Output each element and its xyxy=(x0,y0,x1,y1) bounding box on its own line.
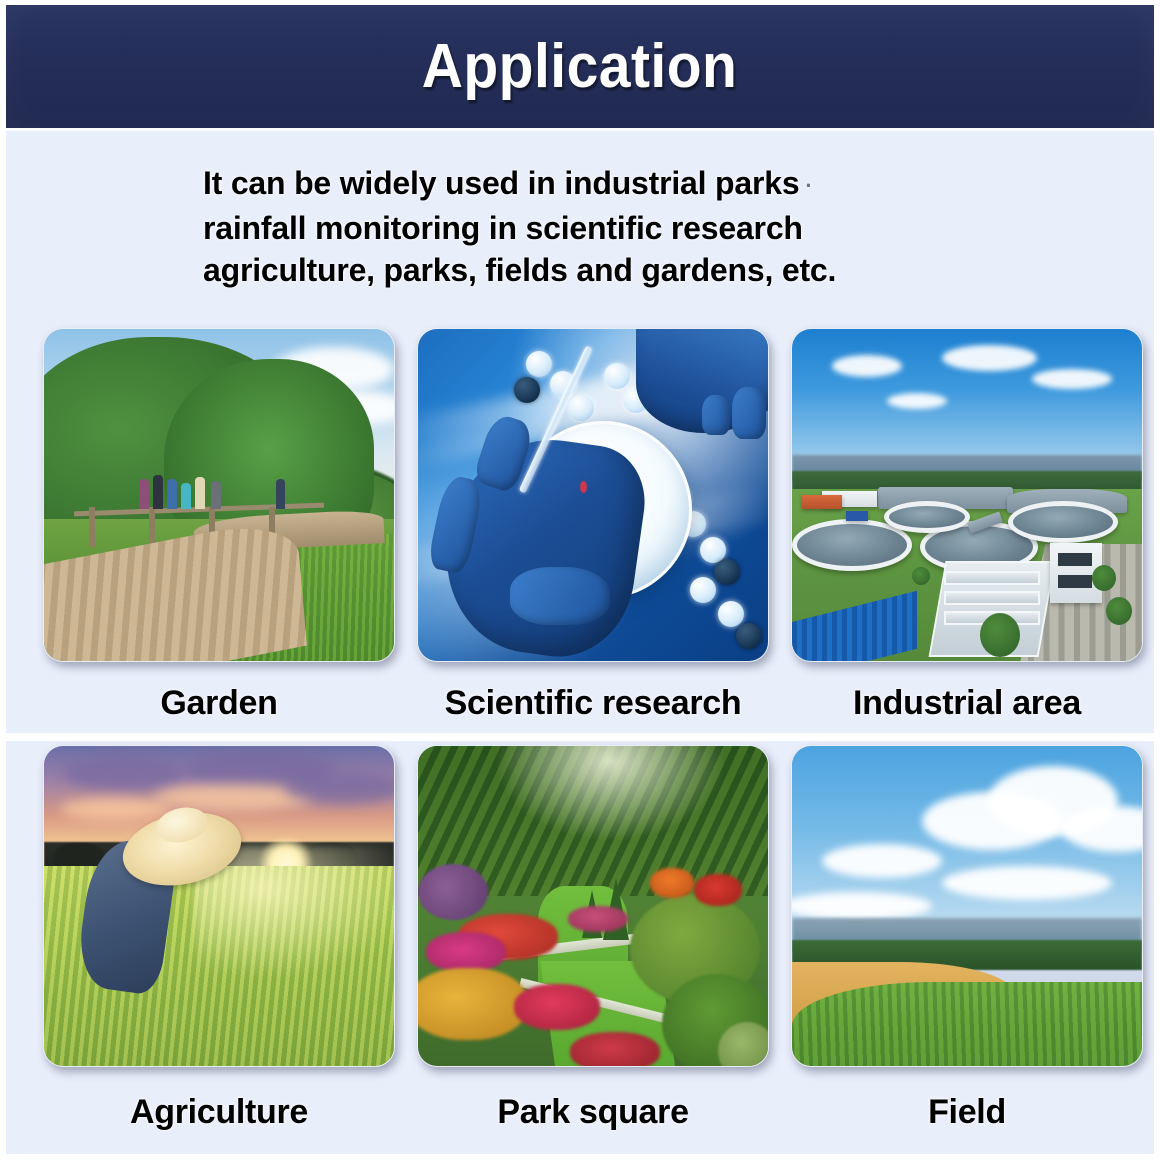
flower-bed-yellow xyxy=(418,968,528,1040)
application-card-industrial-area[interactable]: Industrial area xyxy=(780,328,1154,723)
shrub-purple xyxy=(418,864,488,920)
scene-botanical-flower-garden xyxy=(418,746,768,1066)
card-caption-scientific-research: Scientific research xyxy=(445,684,742,723)
people-group xyxy=(139,467,229,509)
dna-bead-icon xyxy=(514,377,540,403)
clarifier-tank xyxy=(1008,501,1118,543)
application-card-garden[interactable]: Garden xyxy=(32,328,406,723)
cloud-icon xyxy=(942,345,1037,371)
person xyxy=(181,483,191,509)
basin-channel xyxy=(944,591,1040,605)
person xyxy=(167,479,177,509)
railing-post xyxy=(149,507,155,547)
flower-bed-orange xyxy=(650,868,694,898)
cloud-icon xyxy=(832,355,902,377)
tree-silhouette xyxy=(54,842,104,868)
person xyxy=(211,481,221,509)
cloud-icon xyxy=(942,866,1112,900)
intro-line-3: agriculture, parks, fields and gardens, … xyxy=(203,249,1013,291)
header-bar: Application xyxy=(6,5,1154,128)
application-card-field[interactable]: Field xyxy=(780,745,1154,1132)
person xyxy=(139,479,149,509)
person xyxy=(195,477,205,509)
card-image-industrial-area[interactable] xyxy=(791,328,1143,662)
page-title: Application xyxy=(422,36,738,98)
scene-water-treatment-plant xyxy=(792,329,1142,661)
cloud-icon xyxy=(1032,369,1112,389)
cloud-icon xyxy=(887,393,947,409)
scene-laboratory-petri-dish xyxy=(418,329,768,661)
glove-finger xyxy=(702,395,730,435)
liquid-drop xyxy=(580,481,587,493)
plant-building-red xyxy=(802,495,842,509)
intro-description: It can be widely used in industrial park… xyxy=(203,162,1013,291)
application-row-2: Agriculture xyxy=(6,745,1154,1132)
intro-separator: · xyxy=(799,173,812,198)
card-caption-field: Field xyxy=(928,1093,1006,1132)
card-image-scientific-research[interactable] xyxy=(417,328,769,662)
cloud-icon xyxy=(822,844,942,878)
railing-post xyxy=(89,507,95,547)
card-caption-industrial-area: Industrial area xyxy=(853,684,1081,723)
application-card-agriculture[interactable]: Agriculture xyxy=(32,745,406,1132)
card-image-park-square[interactable] xyxy=(417,745,769,1067)
scene-farmer-rice-field-sunset xyxy=(44,746,394,1066)
flower-bed-red xyxy=(570,1032,660,1066)
crop-field xyxy=(792,982,1142,1066)
dna-bead-icon xyxy=(604,363,630,389)
cloud-icon xyxy=(60,798,170,820)
flower-bed-pink xyxy=(426,932,506,972)
card-image-field[interactable] xyxy=(791,745,1143,1067)
building-window xyxy=(1058,553,1092,566)
flower-bed-crimson xyxy=(514,984,600,1030)
person-distant xyxy=(276,479,285,509)
card-image-agriculture[interactable] xyxy=(43,745,395,1067)
application-card-park-square[interactable]: Park square xyxy=(406,745,780,1132)
glove-finger xyxy=(732,387,766,439)
card-caption-garden: Garden xyxy=(160,684,277,723)
scene-farmland-crops-sky xyxy=(792,746,1142,1066)
tree-icon xyxy=(1106,597,1132,625)
flower-bed-red xyxy=(694,874,742,906)
tree-icon xyxy=(1092,565,1116,591)
dna-bead-icon xyxy=(568,395,594,421)
building-window xyxy=(1058,575,1092,588)
tank-equipment xyxy=(846,511,868,521)
person xyxy=(153,475,163,509)
dna-bead-icon xyxy=(526,351,552,377)
glove-palm xyxy=(510,567,610,625)
card-image-garden[interactable] xyxy=(43,328,395,662)
dna-bead-icon xyxy=(690,577,716,603)
dna-bead-icon xyxy=(714,559,740,585)
card-caption-agriculture: Agriculture xyxy=(130,1093,308,1132)
clarifier-tank xyxy=(884,501,970,533)
application-row-1: Garden xyxy=(6,328,1154,723)
tree-icon xyxy=(980,613,1020,657)
cloud-icon xyxy=(64,756,184,790)
intro-line-1: It can be widely used in industrial park… xyxy=(203,162,1013,207)
flower-bed-magenta xyxy=(568,906,628,932)
dna-bead-icon xyxy=(718,601,744,627)
tree-icon xyxy=(912,567,930,585)
cloud-icon xyxy=(284,772,394,804)
scene-garden-boardwalk xyxy=(44,329,394,661)
intro-line-1-text: It can be widely used in industrial park… xyxy=(203,165,799,201)
basin-channel xyxy=(944,571,1040,585)
application-card-scientific-research[interactable]: Scientific research xyxy=(406,328,780,723)
card-caption-park-square: Park square xyxy=(497,1093,688,1132)
dna-bead-icon xyxy=(736,623,762,649)
application-page: Application It can be widely used in ind… xyxy=(0,0,1160,1160)
intro-line-2: rainfall monitoring in scientific resear… xyxy=(203,207,1013,249)
